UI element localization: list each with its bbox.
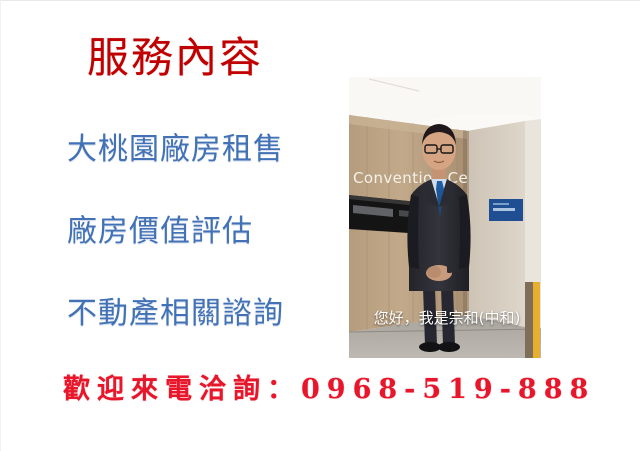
service-item-3: 不動產相關諮詢 — [67, 295, 284, 333]
page-title: 服務內容 — [87, 33, 263, 83]
service-item-1: 大桃園廠房租售 — [67, 131, 284, 169]
contact-phone-line: 歡迎來電洽詢：0968-519-888 — [63, 373, 595, 407]
slide-canvas: 服務內容 大桃園廠房租售 廠房價值評估 不動產相關諮詢 歡迎來電洽詢：0968-… — [0, 0, 640, 451]
service-item-2: 廠房價值評估 — [67, 213, 253, 251]
photo-caption: 您好，我是宗和(中和) — [353, 308, 541, 328]
